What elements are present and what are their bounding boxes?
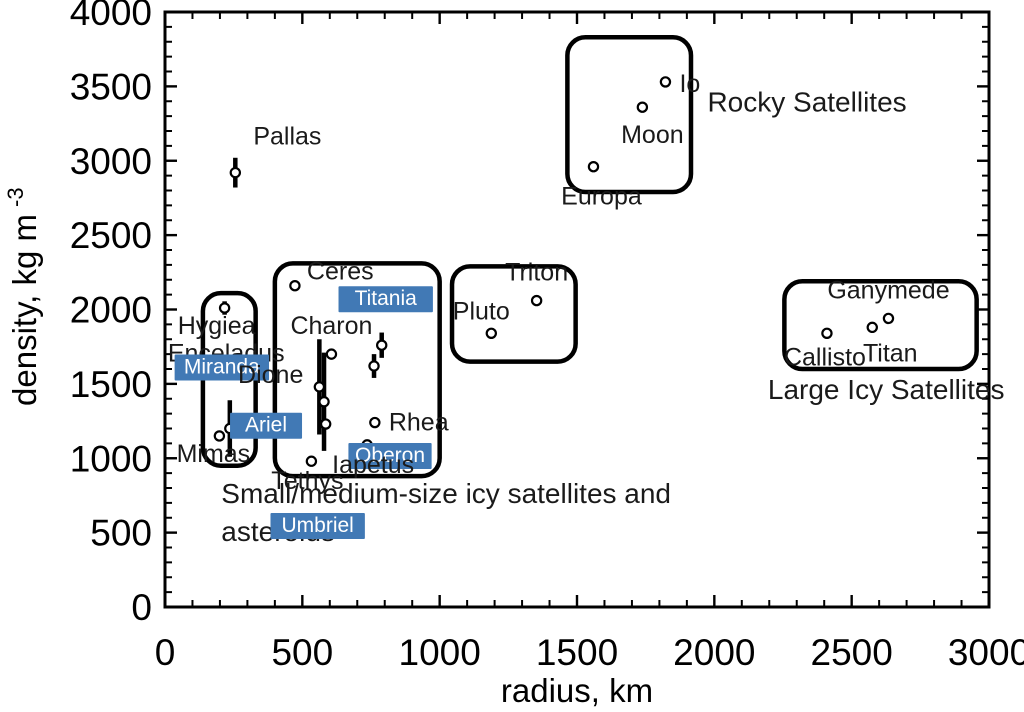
- point-label-mimas: Mimas: [177, 440, 251, 468]
- datapoint-europa[interactable]: [589, 162, 598, 171]
- point-label-titania: Titania: [355, 287, 418, 310]
- x-tick-label: 3000: [948, 632, 1024, 673]
- datapoint-pluto[interactable]: [487, 329, 496, 338]
- point-label-io: Io: [679, 70, 700, 98]
- svg-text:-3: -3: [3, 187, 28, 207]
- y-tick-label: 4000: [70, 0, 152, 33]
- point-label-ariel: Ariel: [245, 414, 287, 437]
- y-tick-label: 1500: [70, 364, 152, 405]
- large-icy-caption: Large Icy Satellites: [768, 374, 1005, 405]
- point-label-callisto: Callisto: [784, 343, 866, 371]
- datapoint-triton[interactable]: [532, 296, 541, 305]
- datapoint-titan[interactable]: [868, 323, 877, 332]
- datapoint-titania[interactable]: [377, 341, 386, 350]
- y-tick-label: 500: [90, 513, 152, 554]
- y-tick-label: 0: [131, 587, 152, 628]
- datapoint-ceres[interactable]: [290, 281, 299, 290]
- y-tick-label: 2000: [70, 290, 152, 331]
- point-label-triton: Triton: [505, 259, 568, 287]
- x-tick-label: 2000: [673, 632, 755, 673]
- x-tick-label: 2500: [811, 632, 893, 673]
- highlighted-label-ariel: Ariel: [230, 413, 302, 439]
- y-axis-title: density, kg m-3: [3, 187, 43, 406]
- x-tick-label: 1500: [536, 632, 618, 673]
- y-tick-label: 3000: [70, 141, 152, 182]
- datapoint-ganymede[interactable]: [884, 314, 893, 323]
- datapoint-dione[interactable]: [315, 382, 324, 391]
- point-label-umbriel: Umbriel: [282, 514, 354, 537]
- point-label-pluto: Pluto: [453, 297, 510, 325]
- datapoint-charon[interactable]: [327, 350, 336, 359]
- rocky-caption: Rocky Satellites: [707, 87, 906, 118]
- x-axis-title: radius, km: [501, 672, 653, 709]
- point-label-moon: Moon: [621, 121, 684, 149]
- datapoint-ariel[interactable]: [319, 397, 328, 406]
- datapoint-moon[interactable]: [638, 103, 647, 112]
- point-label-titan: Titan: [863, 339, 918, 367]
- y-tick-label: 2500: [70, 215, 152, 256]
- point-label-ganymede: Ganymede: [827, 276, 949, 304]
- point-label-ceres: Ceres: [307, 258, 374, 286]
- chart-figure: 0500100015002000250030000500100015002000…: [0, 0, 1024, 712]
- datapoint-pallas[interactable]: [231, 168, 240, 177]
- group-box-rocky: [567, 37, 691, 192]
- point-label-hygiea: Hygiea: [178, 312, 256, 340]
- point-label-rhea: Rhea: [389, 409, 449, 437]
- highlighted-label-titania: Titania: [339, 286, 433, 312]
- y-tick-label: 3500: [70, 66, 152, 107]
- density-radius-scatter-plot: 0500100015002000250030000500100015002000…: [0, 0, 1024, 712]
- point-label-charon: Charon: [290, 312, 372, 340]
- point-label-pallas: Pallas: [253, 123, 321, 151]
- x-tick-label: 1000: [399, 632, 481, 673]
- datapoint-tethys[interactable]: [307, 457, 316, 466]
- point-label-iapetus: Iapetus: [332, 451, 414, 479]
- x-tick-label: 500: [271, 632, 333, 673]
- datapoint-callisto[interactable]: [822, 329, 831, 338]
- datapoint-oberon[interactable]: [369, 361, 378, 370]
- svg-text:density, kg m: density, kg m: [6, 214, 43, 406]
- y-tick-label: 1000: [70, 438, 152, 479]
- datapoint-io[interactable]: [661, 77, 670, 86]
- datapoint-umbriel[interactable]: [321, 419, 330, 428]
- highlighted-label-umbriel: Umbriel: [270, 513, 364, 539]
- point-label-europa: Europa: [561, 183, 642, 211]
- x-tick-label: 0: [155, 632, 176, 673]
- datapoint-rhea[interactable]: [370, 418, 379, 427]
- point-label-dione: Dione: [238, 361, 303, 389]
